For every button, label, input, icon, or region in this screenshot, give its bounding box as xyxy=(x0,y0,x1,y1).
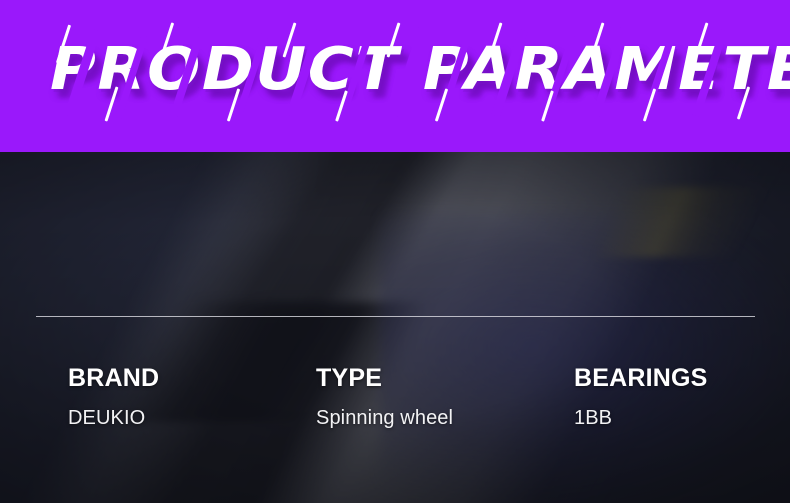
product-parameter-banner: PRODUCT PARAMETER PRODUCT PARAMETER xyxy=(0,0,790,503)
spec-value-brand: DEUKIO xyxy=(68,406,159,430)
title-wrap: PRODUCT PARAMETER PRODUCT PARAMETER xyxy=(0,0,790,152)
spec-label-brand: BRAND xyxy=(68,364,159,392)
page-title: PRODUCT PARAMETER xyxy=(50,34,790,104)
spec-value-bearings: 1BB xyxy=(574,406,708,430)
spec-cell-brand: BRAND DEUKIO xyxy=(68,364,159,430)
spec-cell-bearings: BEARINGS 1BB xyxy=(574,364,708,430)
header-band: PRODUCT PARAMETER PRODUCT PARAMETER xyxy=(0,0,790,152)
spec-grid: BRAND DEUKIO TYPE Spinning wheel BEARING… xyxy=(0,152,790,503)
spec-label-bearings: BEARINGS xyxy=(574,364,708,392)
spec-cell-type: TYPE Spinning wheel xyxy=(316,364,453,430)
spec-label-type: TYPE xyxy=(316,364,453,392)
spec-value-type: Spinning wheel xyxy=(316,406,453,430)
spec-panel: BRAND DEUKIO TYPE Spinning wheel BEARING… xyxy=(0,152,790,503)
